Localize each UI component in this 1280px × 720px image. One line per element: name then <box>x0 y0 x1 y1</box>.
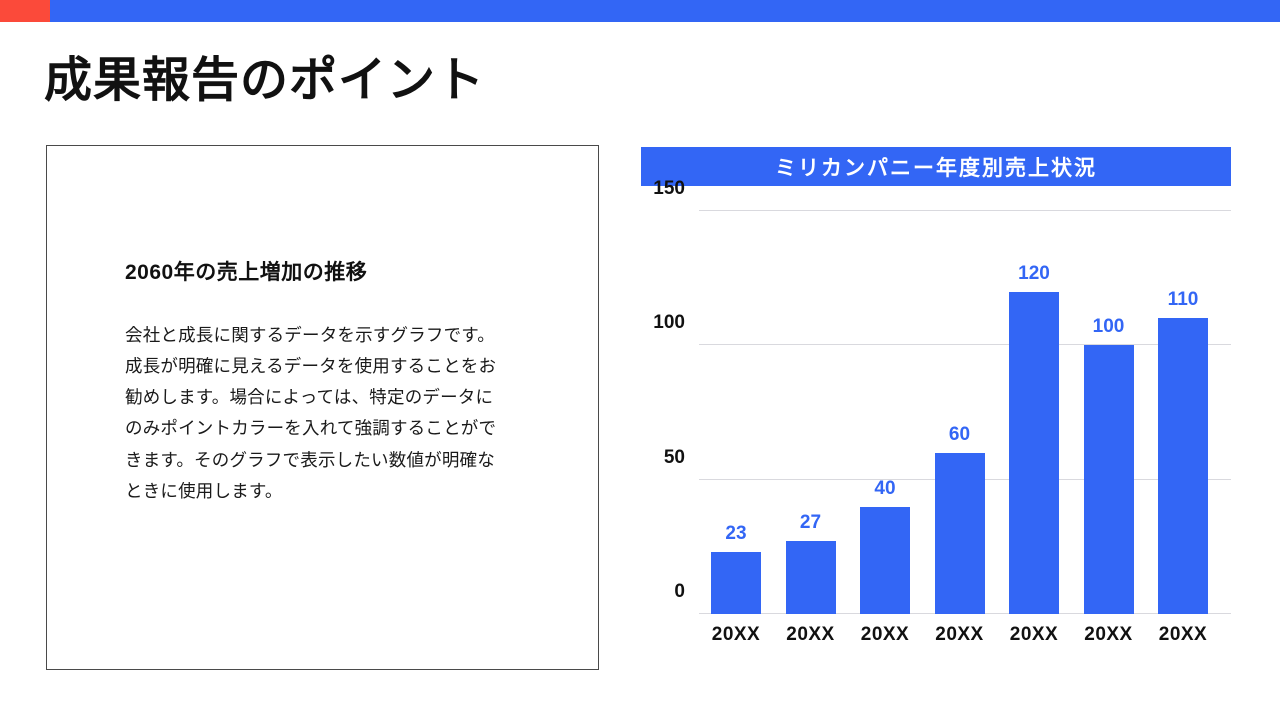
bar-column[interactable]: 27 <box>786 211 836 614</box>
bar-value-label: 60 <box>935 424 985 446</box>
x-axis-category-label: 20XX <box>1077 624 1141 646</box>
top-accent-bar-blue <box>50 0 1280 22</box>
chart-panel: ミリカンパニー年度別売上状況 050100150 232740601201001… <box>641 147 1231 677</box>
y-axis-tick-label: 100 <box>653 312 685 334</box>
bar-column[interactable]: 40 <box>860 211 910 614</box>
bar-value-label: 110 <box>1158 289 1208 311</box>
bar-value-label: 120 <box>1009 263 1059 285</box>
chart-y-axis: 050100150 <box>641 186 693 676</box>
bar-column[interactable]: 23 <box>711 211 761 614</box>
page-title: 成果報告のポイント <box>44 52 485 110</box>
bar[interactable] <box>860 507 910 614</box>
bar-column[interactable]: 100 <box>1084 211 1134 614</box>
x-axis-category-label: 20XX <box>704 624 768 646</box>
y-axis-tick-label: 50 <box>664 447 685 469</box>
bar[interactable] <box>786 541 836 614</box>
x-axis-category-label: 20XX <box>928 624 992 646</box>
y-axis-tick-label: 0 <box>674 581 685 603</box>
x-axis-category-label: 20XX <box>853 624 917 646</box>
bar[interactable] <box>935 453 985 614</box>
info-card-body: 会社と成長に関するデータを示すグラフです。 成長が明確に見えるデータを使用するこ… <box>125 320 497 507</box>
chart-title-bar: ミリカンパニー年度別売上状況 <box>641 147 1231 186</box>
bar[interactable] <box>1158 318 1208 614</box>
bar[interactable] <box>1084 345 1134 614</box>
bar-value-label: 40 <box>860 478 910 500</box>
chart-x-axis: 20XX20XX20XX20XX20XX20XX20XX <box>699 624 1231 652</box>
info-card: 2060年の売上増加の推移 会社と成長に関するデータを示すグラフです。 成長が明… <box>46 145 599 670</box>
info-card-heading: 2060年の売上増加の推移 <box>125 256 525 286</box>
x-axis-category-label: 20XX <box>779 624 843 646</box>
top-accent-bar <box>0 0 1280 22</box>
y-axis-tick-label: 150 <box>653 178 685 200</box>
bar[interactable] <box>1009 292 1059 614</box>
bar[interactable] <box>711 552 761 614</box>
chart-title: ミリカンパニー年度別売上状況 <box>775 152 1097 182</box>
bar-value-label: 27 <box>786 512 836 534</box>
x-axis-category-label: 20XX <box>1002 624 1066 646</box>
bar-column[interactable]: 120 <box>1009 211 1059 614</box>
chart-bars: 23274060120100110 <box>699 211 1231 614</box>
x-axis-category-label: 20XX <box>1151 624 1215 646</box>
chart-plot-area: 050100150 23274060120100110 20XX20XX20XX… <box>641 186 1231 676</box>
info-card-content: 2060年の売上増加の推移 会社と成長に関するデータを示すグラフです。 成長が明… <box>125 256 525 507</box>
bar-column[interactable]: 110 <box>1158 211 1208 614</box>
bar-column[interactable]: 60 <box>935 211 985 614</box>
bar-value-label: 100 <box>1084 316 1134 338</box>
top-accent-bar-red <box>0 0 50 22</box>
bar-value-label: 23 <box>711 523 761 545</box>
